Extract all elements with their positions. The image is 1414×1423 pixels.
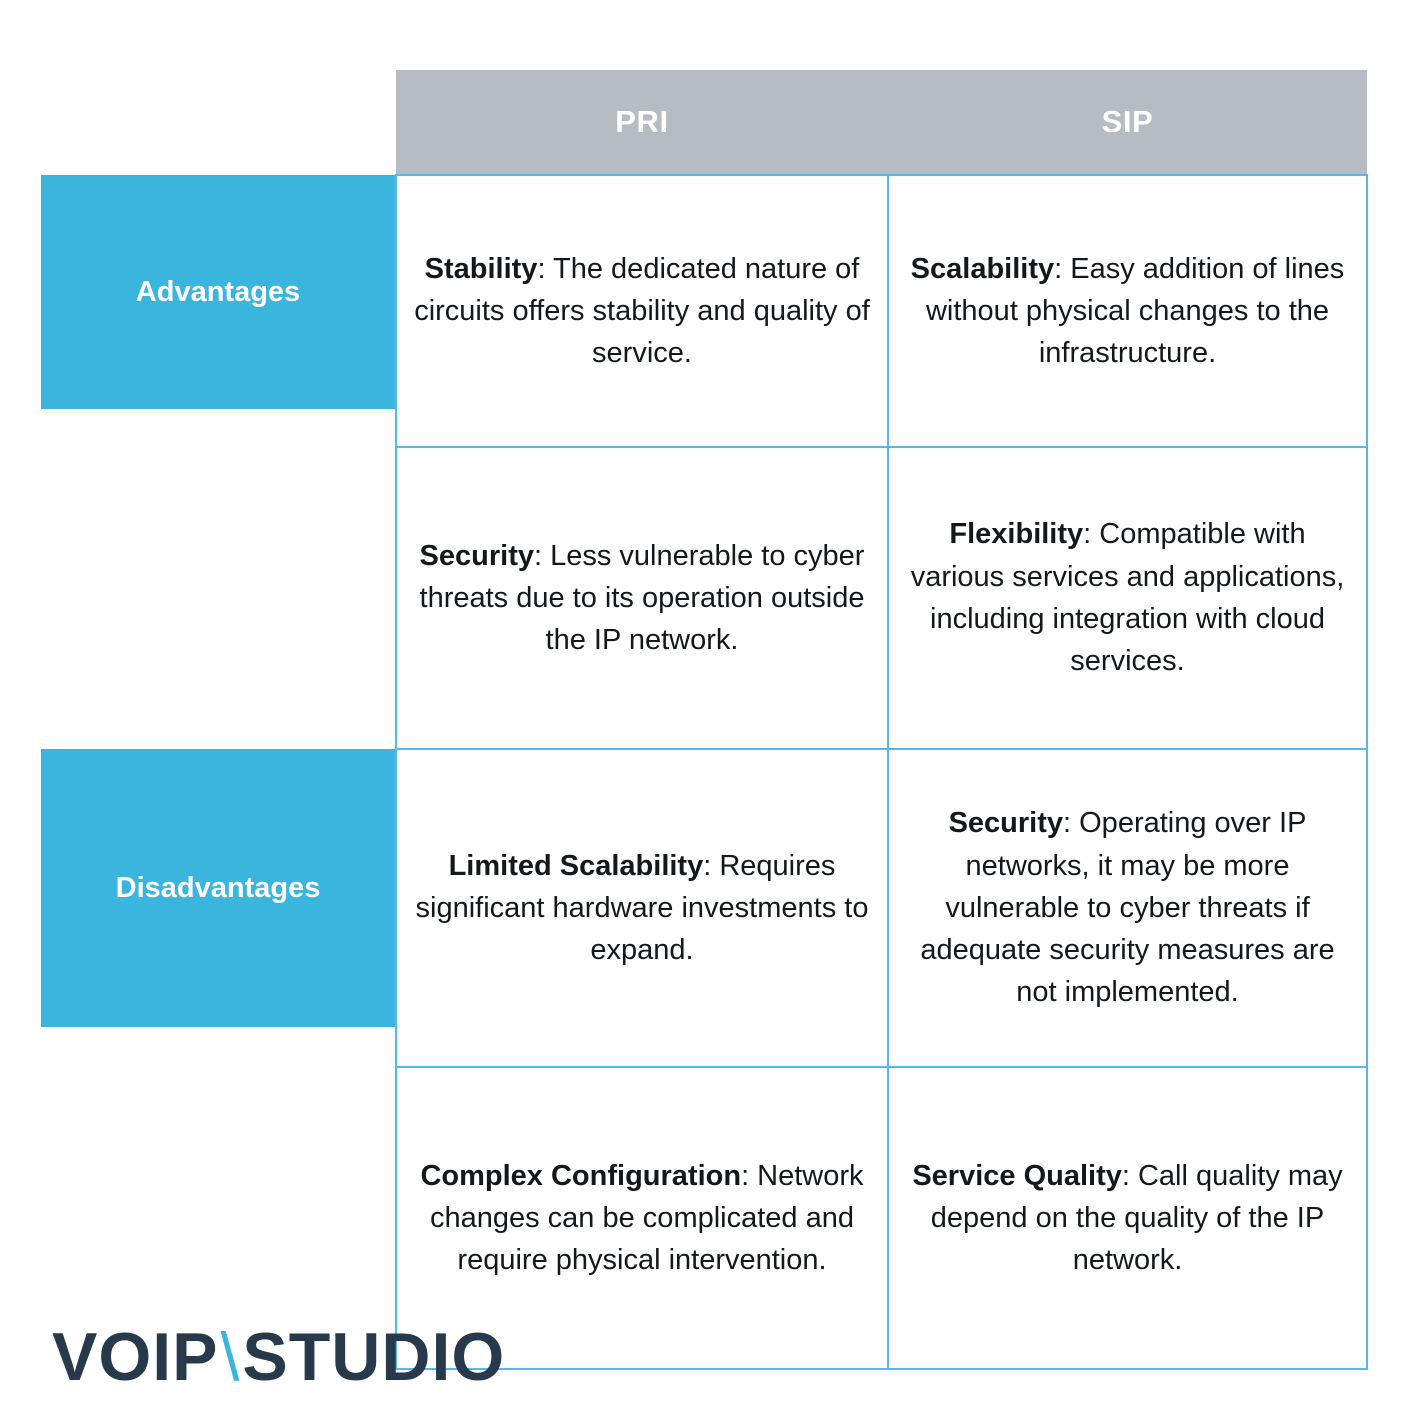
row-group-label-disadvantages-cell: Disadvantages [41, 749, 396, 1369]
cell-term: Limited Scalability [449, 850, 704, 882]
pri-vs-sip-comparison-table: PRI SIP Advantages Stability: The dedica… [41, 70, 1368, 1370]
table-header: PRI SIP [41, 70, 1367, 175]
logo-text-studio: STUDIO [242, 1318, 505, 1396]
cell-sip-advantage-1: Scalability: Easy addition of lines with… [888, 175, 1367, 447]
table-body: Advantages Stability: The dedicated natu… [41, 175, 1367, 1369]
cell-sip-advantage-2: Flexibility: Compatible with various ser… [888, 447, 1367, 749]
header-row: PRI SIP [41, 70, 1367, 175]
cell-term: Complex Configuration [420, 1160, 741, 1192]
cell-pri-disadvantage-1: Limited Scalability: Requires significan… [396, 749, 888, 1067]
cell-term: Flexibility [949, 518, 1083, 550]
cell-pri-advantage-2: Security: Less vulnerable to cyber threa… [396, 447, 888, 749]
cell-term: Service Quality [912, 1160, 1122, 1192]
logo-slash-separator: \ [219, 1318, 243, 1396]
voipstudio-logo: VOIP\STUDIO [52, 1318, 505, 1396]
cell-sip-disadvantage-2: Service Quality: Call quality may depend… [888, 1067, 1367, 1369]
infographic-page: PRI SIP Advantages Stability: The dedica… [0, 0, 1414, 1423]
cell-sip-disadvantage-1: Security: Operating over IP networks, it… [888, 749, 1367, 1067]
row-group-label-advantages: Advantages [41, 175, 395, 409]
column-header-sip: SIP [888, 70, 1367, 175]
table-row: Disadvantages Limited Scalability: Requi… [41, 749, 1367, 1067]
column-header-pri: PRI [396, 70, 888, 175]
table-row: Advantages Stability: The dedicated natu… [41, 175, 1367, 447]
header-spacer-cell [41, 70, 396, 175]
cell-pri-advantage-1: Stability: The dedicated nature of circu… [396, 175, 888, 447]
cell-term: Security [420, 540, 534, 572]
logo-text-voip: VOIP [52, 1318, 219, 1396]
row-group-label-advantages-cell: Advantages [41, 175, 396, 749]
row-group-label-disadvantages: Disadvantages [41, 749, 395, 1027]
cell-term: Security [949, 807, 1063, 839]
cell-term: Stability [425, 253, 538, 285]
cell-term: Scalability [911, 253, 1054, 285]
